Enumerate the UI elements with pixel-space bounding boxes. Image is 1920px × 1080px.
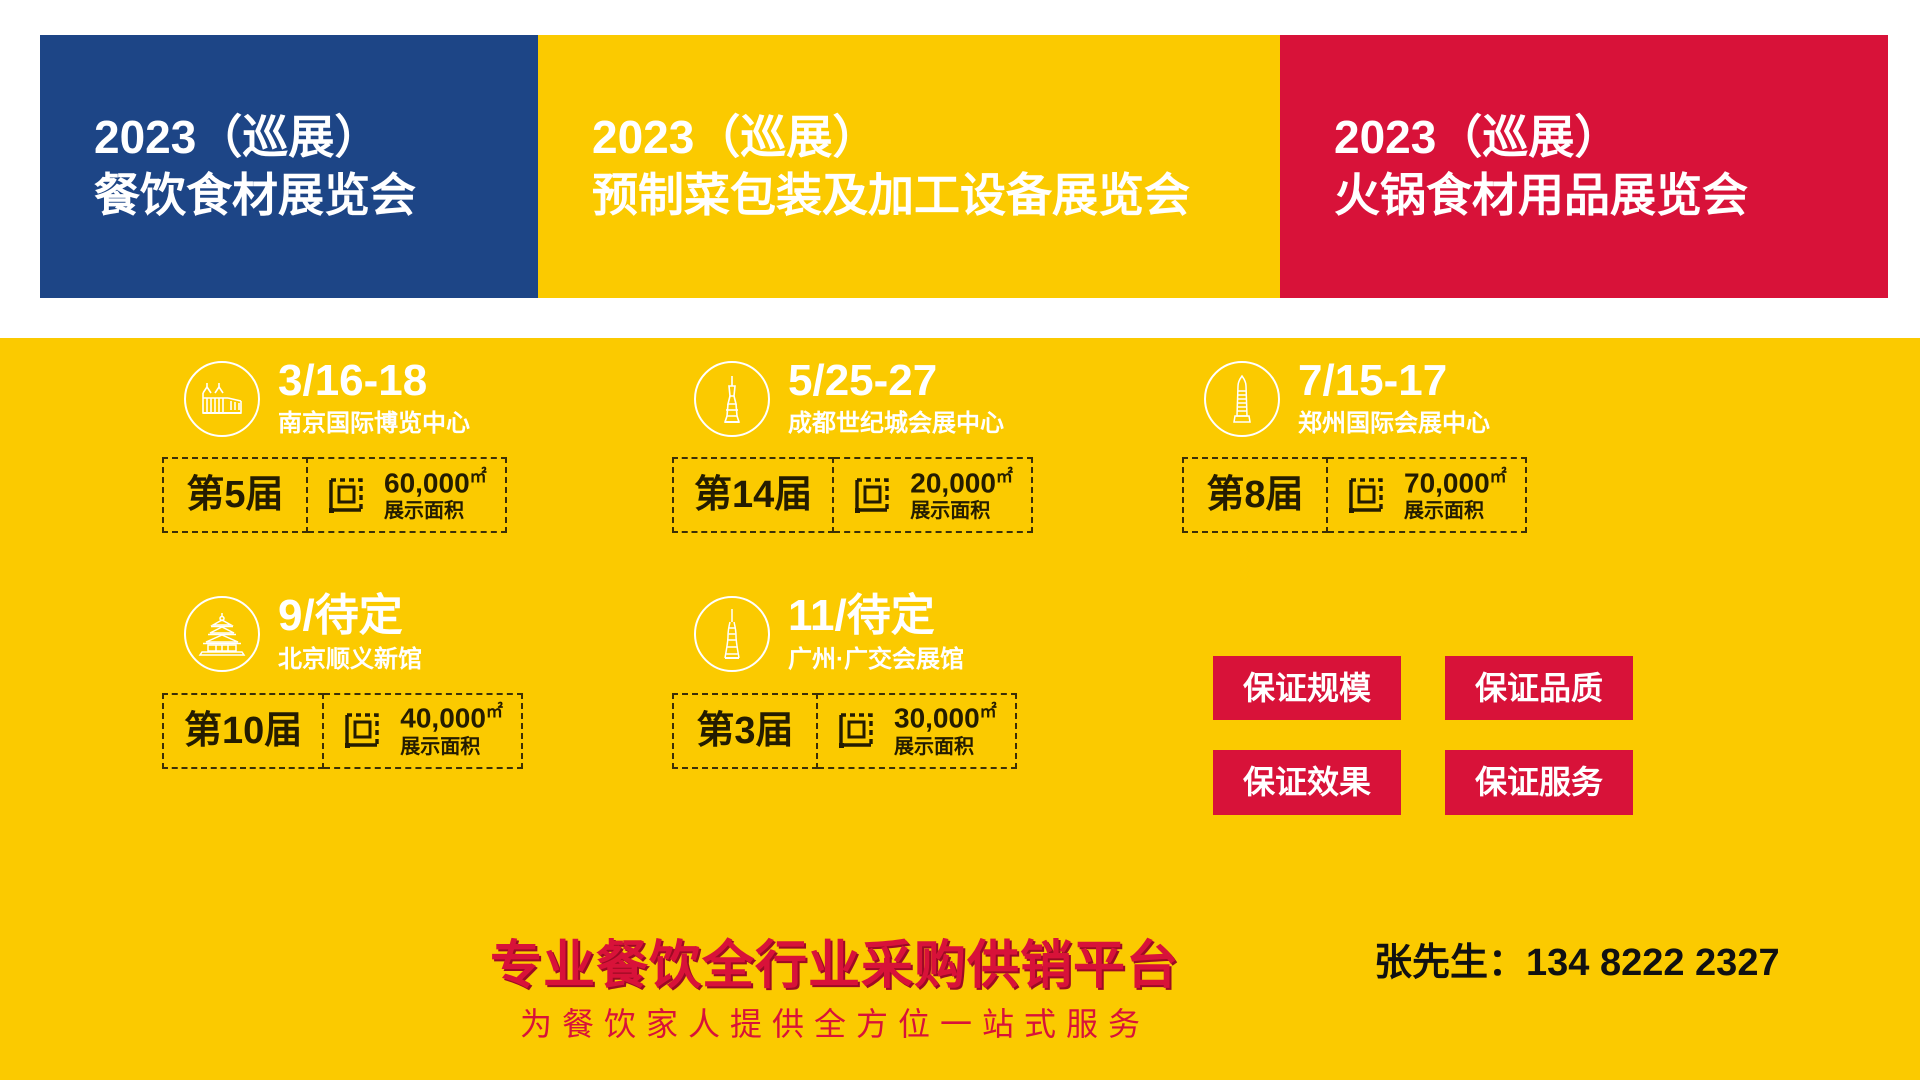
floorplan-icon xyxy=(1344,470,1390,521)
event-edition-box: 第8届 xyxy=(1182,457,1328,533)
zhengzhou-pagoda-icon xyxy=(1204,361,1280,437)
chengdu-tower-icon xyxy=(694,361,770,437)
event-edition: 第14届 xyxy=(694,476,812,514)
guarantee-badge-group: 保证规模 保证品质 保证效果 保证服务 xyxy=(1213,656,1633,815)
event-area-box: 70,000㎡ 展示面积 xyxy=(1328,457,1527,533)
event-venue: 南京国际博览中心 xyxy=(278,408,470,439)
banner-panel-prepared-food-equipment: 2023（巡展） 预制菜包装及加工设备展览会 xyxy=(538,35,1280,298)
event-card-head: 11/待定 广州·广交会展馆 xyxy=(690,593,964,674)
event-card-meta: 第3届 xyxy=(672,693,1017,769)
event-area-unit: ㎡ xyxy=(470,467,487,486)
event-area-unit: ㎡ xyxy=(486,702,503,721)
event-area-label: 展示面积 xyxy=(384,499,464,523)
event-venue: 广州·广交会展馆 xyxy=(788,644,964,675)
badge-guarantee-scale[interactable]: 保证规模 xyxy=(1213,656,1401,720)
event-area-text: 40,000㎡ 展示面积 xyxy=(400,703,503,759)
event-area-box: 60,000㎡ 展示面积 xyxy=(308,457,507,533)
event-area-value: 30,000㎡ xyxy=(894,703,997,733)
event-area-value: 60,000㎡ xyxy=(384,468,487,498)
event-card-meta: 第8届 xyxy=(1182,457,1527,533)
event-card-zhengzhou[interactable]: 7/15-17 郑州国际会展中心 第8届 xyxy=(1200,358,1710,533)
event-area-label: 展示面积 xyxy=(400,735,480,759)
event-card-head: 3/16-18 南京国际博览中心 xyxy=(180,358,470,439)
event-area-value: 40,000㎡ xyxy=(400,703,503,733)
event-edition-box: 第3届 xyxy=(672,693,818,769)
event-card-meta: 第14届 xyxy=(672,457,1033,533)
header-banner: 2023（巡展） 餐饮食材展览会 2023（巡展） 预制菜包装及加工设备展览会 … xyxy=(40,35,1888,298)
event-date: 9/待定 xyxy=(278,593,422,639)
event-edition: 第5届 xyxy=(186,476,283,514)
event-card-head-text: 11/待定 广州·广交会展馆 xyxy=(788,593,964,674)
event-venue: 成都世纪城会展中心 xyxy=(788,408,1004,439)
event-card-head: 9/待定 北京顺义新馆 xyxy=(180,593,422,674)
banner-panel-2-line2: 火锅食材用品展览会 xyxy=(1334,167,1888,224)
event-area-box: 20,000㎡ 展示面积 xyxy=(834,457,1033,533)
banner-panel-0-line1: 2023（巡展） xyxy=(94,109,538,166)
event-edition: 第8届 xyxy=(1206,476,1303,514)
event-card-beijing[interactable]: 9/待定 北京顺义新馆 第10届 xyxy=(180,593,690,768)
body-section: 3/16-18 南京国际博览中心 第5届 xyxy=(0,338,1920,1080)
event-card-head-text: 9/待定 北京顺义新馆 xyxy=(278,593,422,674)
badge-guarantee-quality[interactable]: 保证品质 xyxy=(1445,656,1633,720)
event-card-nanjing[interactable]: 3/16-18 南京国际博览中心 第5届 xyxy=(180,358,690,533)
floorplan-icon xyxy=(340,705,386,756)
banner-panel-1-line2: 预制菜包装及加工设备展览会 xyxy=(592,167,1280,224)
badge-guarantee-effect[interactable]: 保证效果 xyxy=(1213,750,1401,814)
footer-subline: 为餐饮家人提供全方位一站式服务 xyxy=(520,999,1150,1045)
event-area-text: 70,000㎡ 展示面积 xyxy=(1404,468,1507,524)
banner-panel-2-line1: 2023（巡展） xyxy=(1334,109,1888,166)
event-area-value: 70,000㎡ xyxy=(1404,468,1507,498)
event-card-meta: 第5届 xyxy=(162,457,507,533)
footer-contact[interactable]: 张先生：134 8222 2327 xyxy=(1374,931,1780,986)
event-area-text: 20,000㎡ 展示面积 xyxy=(910,468,1013,524)
event-area-label: 展示面积 xyxy=(910,499,990,523)
event-area-text: 60,000㎡ 展示面积 xyxy=(384,468,487,524)
nanjing-museum-icon xyxy=(184,361,260,437)
event-area-unit: ㎡ xyxy=(980,702,997,721)
event-date: 3/16-18 xyxy=(278,358,470,404)
event-edition-box: 第14届 xyxy=(672,457,834,533)
floorplan-icon xyxy=(834,705,880,756)
event-edition-box: 第10届 xyxy=(162,693,324,769)
event-venue: 郑州国际会展中心 xyxy=(1298,408,1490,439)
badge-guarantee-service[interactable]: 保证服务 xyxy=(1445,750,1633,814)
event-area-unit: ㎡ xyxy=(1490,467,1507,486)
event-card-head-text: 3/16-18 南京国际博览中心 xyxy=(278,358,470,439)
event-card-meta: 第10届 xyxy=(162,693,523,769)
event-date: 7/15-17 xyxy=(1298,358,1490,404)
event-venue: 北京顺义新馆 xyxy=(278,644,422,675)
event-card-head: 5/25-27 成都世纪城会展中心 xyxy=(690,358,1004,439)
event-area-value: 20,000㎡ xyxy=(910,468,1013,498)
floorplan-icon xyxy=(324,470,370,521)
beijing-temple-of-heaven-icon xyxy=(184,596,260,672)
event-card-head-text: 5/25-27 成都世纪城会展中心 xyxy=(788,358,1004,439)
event-area-label: 展示面积 xyxy=(894,735,974,759)
banner-panel-hotpot-supplies: 2023（巡展） 火锅食材用品展览会 xyxy=(1280,35,1888,298)
event-date: 5/25-27 xyxy=(788,358,1004,404)
event-area-text: 30,000㎡ 展示面积 xyxy=(894,703,997,759)
event-edition: 第10届 xyxy=(184,712,302,750)
event-area-box: 30,000㎡ 展示面积 xyxy=(818,693,1017,769)
event-area-unit: ㎡ xyxy=(996,467,1013,486)
poster-root: 2023（巡展） 餐饮食材展览会 2023（巡展） 预制菜包装及加工设备展览会 … xyxy=(0,0,1920,1080)
banner-panel-catering-ingredients: 2023（巡展） 餐饮食材展览会 xyxy=(40,35,538,298)
footer-headline: 专业餐饮全行业采购供销平台 xyxy=(490,923,1179,998)
event-date: 11/待定 xyxy=(788,593,964,639)
guangzhou-canton-tower-icon xyxy=(694,596,770,672)
banner-panel-1-line1: 2023（巡展） xyxy=(592,109,1280,166)
event-edition: 第3届 xyxy=(696,712,793,750)
event-area-box: 40,000㎡ 展示面积 xyxy=(324,693,523,769)
event-card-row-1: 3/16-18 南京国际博览中心 第5届 xyxy=(180,358,1740,533)
event-edition-box: 第5届 xyxy=(162,457,308,533)
banner-panel-0-line2: 餐饮食材展览会 xyxy=(94,167,538,224)
event-area-label: 展示面积 xyxy=(1404,499,1484,523)
event-card-head: 7/15-17 郑州国际会展中心 xyxy=(1200,358,1490,439)
event-card-chengdu[interactable]: 5/25-27 成都世纪城会展中心 第14届 xyxy=(690,358,1200,533)
event-card-guangzhou[interactable]: 11/待定 广州·广交会展馆 第3届 xyxy=(690,593,1200,768)
floorplan-icon xyxy=(850,470,896,521)
event-card-head-text: 7/15-17 郑州国际会展中心 xyxy=(1298,358,1490,439)
